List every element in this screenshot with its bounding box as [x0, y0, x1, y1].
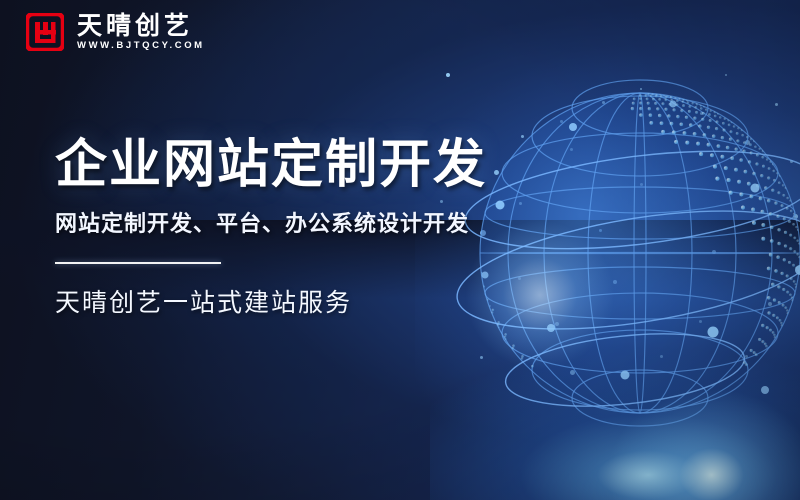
promo-banner: 天晴创艺 WWW.BJTQCY.COM 企业网站定制开发 网站定制开发、平台、办… — [0, 0, 800, 500]
logo-company-name: 天晴创艺 — [77, 13, 205, 38]
page-title: 企业网站定制开发 — [55, 136, 575, 196]
divider-rule — [55, 262, 221, 264]
logo-website-url: WWW.BJTQCY.COM — [77, 41, 205, 51]
site-logo[interactable]: 天晴创艺 WWW.BJTQCY.COM — [26, 13, 205, 51]
headline-block: 企业网站定制开发 网站定制开发、平台、办公系统设计开发 天晴创艺一站式建站服务 — [55, 136, 575, 320]
subtitle: 网站定制开发、平台、办公系统设计开发 — [55, 210, 575, 240]
tagline: 天晴创艺一站式建站服务 — [55, 286, 575, 320]
logo-text-block: 天晴创艺 WWW.BJTQCY.COM — [77, 13, 205, 51]
logo-mark-icon — [26, 13, 64, 51]
